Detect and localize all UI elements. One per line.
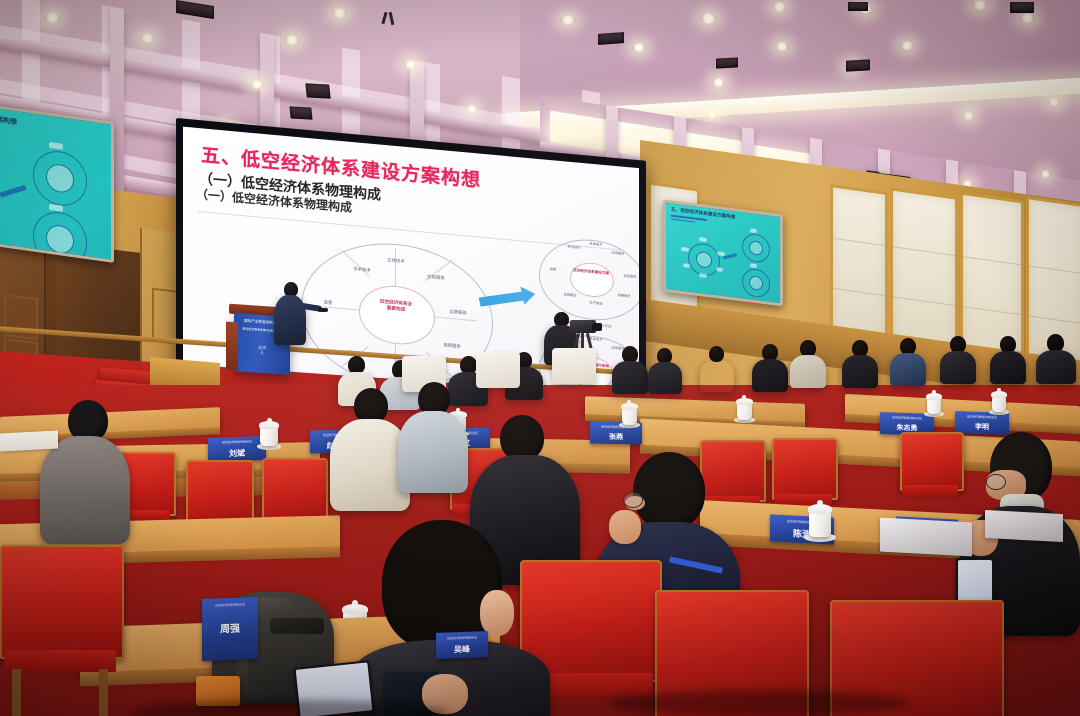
chair	[0, 545, 120, 716]
conference-hall-photo: 五、低空经济体系建设方案构想 五、低空经济体系建设方案构想	[0, 0, 1080, 716]
nameplate-org: 低空经济数智创新论坛	[955, 414, 1009, 420]
downlight	[140, 33, 155, 43]
attendee-head	[633, 452, 705, 530]
attendee	[842, 340, 878, 386]
teacup	[990, 388, 1008, 414]
right-monitor-screen: 五、低空经济体系建设方案构想	[666, 203, 780, 303]
attendee	[700, 346, 734, 390]
downlight	[1040, 170, 1051, 178]
podium-vertical-text: 主讲人	[257, 345, 267, 356]
nameplate-name: 周强	[202, 619, 258, 636]
ceiling-vent	[289, 106, 312, 119]
downlight	[706, 110, 718, 118]
downlight	[284, 35, 300, 45]
paper-sheet	[0, 430, 58, 451]
attendee	[990, 336, 1026, 382]
right-wheel-1: 低空经济体系建设方案 学术技术 总体技术 应用服务 运营服务 保障服务 生产制造…	[539, 235, 639, 322]
ceiling-vent	[176, 0, 214, 19]
podium-side	[226, 322, 238, 371]
attendee	[890, 338, 926, 384]
nameplate-org: 低空经济数智创新论坛	[202, 602, 258, 608]
downlight	[332, 8, 347, 18]
downlight	[775, 42, 789, 51]
hanging-microphone	[389, 12, 395, 25]
left-monitor-screen: 五、低空经济体系建设方案构想	[0, 96, 111, 259]
presenter-microphone	[318, 308, 328, 312]
ceiling-vent	[305, 83, 330, 98]
teacup	[925, 390, 943, 416]
downlight	[1020, 13, 1035, 23]
ceiling-vent	[846, 59, 870, 71]
downlight	[962, 111, 975, 120]
nameplate-org: 低空经济数智创新论坛	[436, 635, 488, 641]
laptop[interactable]	[880, 518, 972, 557]
video-camera	[566, 316, 602, 350]
downlight	[548, 128, 560, 136]
attendee-face	[480, 590, 514, 636]
nameplate-name: 刘斌	[208, 447, 266, 460]
teacup	[735, 395, 754, 422]
downlight	[250, 80, 264, 89]
downlight	[700, 13, 717, 24]
chair	[900, 432, 960, 514]
ceiling-vent	[1010, 2, 1034, 13]
downlight	[466, 105, 478, 113]
attendee-light-blue	[398, 382, 468, 490]
downlight	[772, 2, 787, 12]
downlight	[560, 15, 576, 25]
glasses-icon	[623, 492, 643, 508]
backpack-zip	[270, 618, 324, 634]
downlight	[712, 78, 725, 87]
downlight	[1048, 98, 1060, 106]
attendee	[790, 340, 826, 386]
attendee-gray-coat	[40, 400, 130, 540]
nameplate-name: 吴峰	[436, 643, 488, 656]
acoustic-panel	[830, 184, 888, 348]
white-chair-back	[476, 352, 520, 388]
glasses-icon	[986, 474, 1006, 490]
attendee	[1036, 334, 1076, 382]
ceiling-vent	[848, 2, 868, 11]
acoustic-panel	[890, 187, 958, 358]
teacup	[806, 500, 834, 540]
downlight	[404, 60, 417, 69]
nameplate-name: 张燕	[590, 431, 642, 442]
downlight	[632, 43, 646, 52]
white-chair-back	[552, 348, 596, 384]
attendee-hands	[609, 510, 641, 544]
notebook[interactable]	[985, 510, 1063, 542]
nameplate: 低空经济数智创新论坛 吴峰	[436, 631, 488, 659]
hanging-microphone	[381, 12, 387, 24]
downlight	[900, 41, 914, 50]
right-monitor[interactable]: 五、低空经济体系建设方案构想	[663, 200, 783, 307]
presenter	[270, 282, 318, 352]
downlight	[44, 12, 61, 23]
ceiling-vent	[716, 57, 738, 68]
attendee	[940, 336, 976, 382]
attendee	[752, 344, 788, 390]
nameplate: 低空经济数智创新论坛 周强	[202, 597, 258, 661]
attendee-coat	[40, 436, 130, 544]
nameplate-name: 李明	[955, 421, 1009, 433]
teacup	[258, 418, 280, 448]
ceiling-vent	[598, 32, 624, 45]
attendee	[648, 348, 682, 392]
downlight	[972, 0, 988, 10]
left-monitor-title: 五、低空经济体系建设方案构想	[0, 104, 17, 128]
teacup	[620, 400, 639, 427]
attendee	[612, 346, 648, 392]
